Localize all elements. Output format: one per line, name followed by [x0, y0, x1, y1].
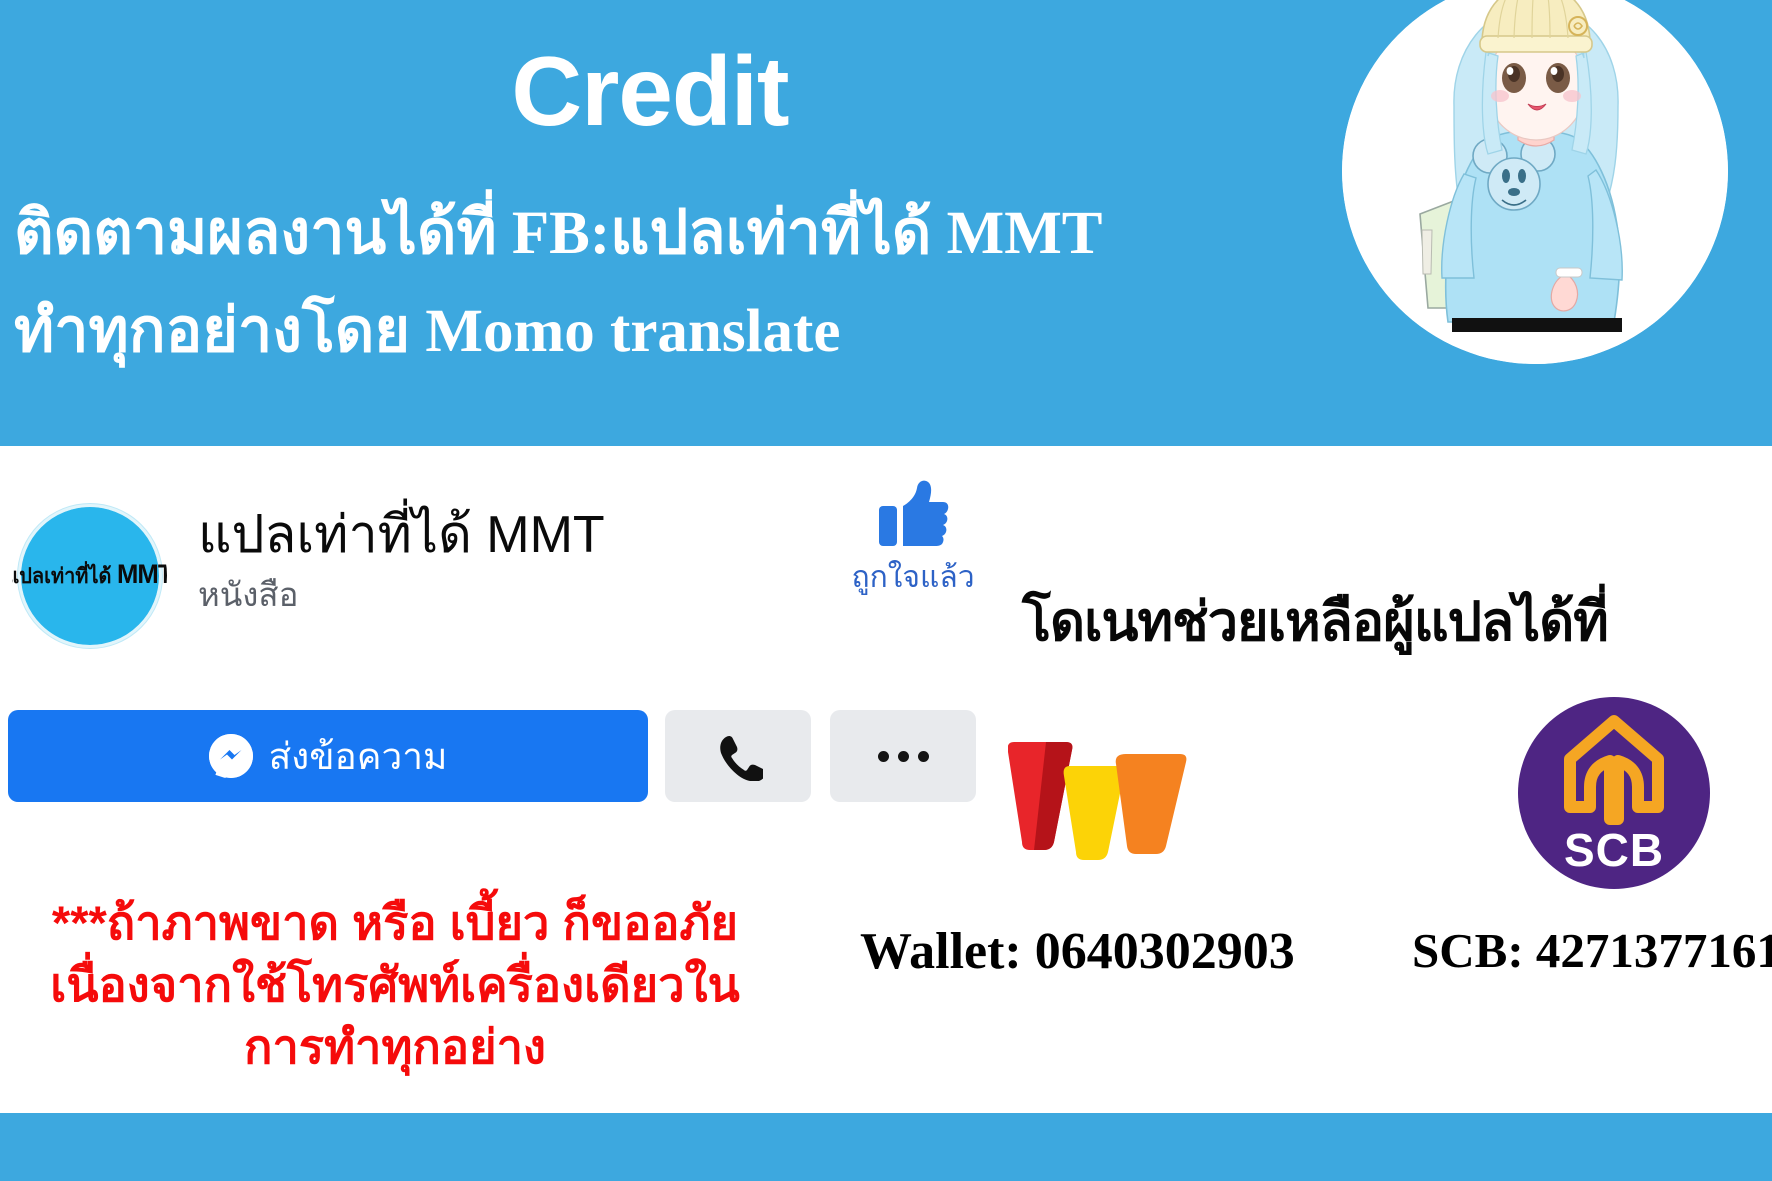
disclaimer-line-1: ***ถ้าภาพขาด หรือ เบี้ยว ก็ขออภัย: [0, 892, 790, 954]
ellipsis-dot: [878, 751, 889, 762]
banner-credit-line: ทำทุกอย่างโดย Momo translate: [14, 298, 840, 365]
truemoney-wallet-logo: [1008, 730, 1188, 860]
banner-follow-line: ติดตามผลงานได้ที่ FB:แปลเท่าที่ได้ MMT: [14, 200, 1103, 267]
ellipsis-dot: [918, 751, 929, 762]
page-logo-text: แปลเท่าที่ได้ MMT: [12, 559, 167, 593]
page-category: หนังสือ: [198, 568, 298, 621]
page-logo-disc: แปลเท่าที่ได้ MMT: [17, 503, 163, 649]
phone-icon: [713, 731, 763, 781]
disclaimer-text: ***ถ้าภาพขาด หรือ เบี้ยว ก็ขออภัย เนื่อง…: [0, 892, 790, 1078]
page-title: แปลเท่าที่ได้ MMT: [198, 492, 605, 575]
disclaimer-line-3: การทำทุกอย่าง: [0, 1016, 790, 1078]
ellipsis-icon: [878, 751, 929, 762]
call-button[interactable]: [665, 710, 811, 802]
bottom-blue-bar: [0, 1113, 1772, 1181]
more-options-button[interactable]: [830, 710, 976, 802]
messenger-icon: [209, 734, 253, 778]
disclaimer-line-2: เนื่องจากใช้โทรศัพท์เครื่องเดียวใน: [0, 954, 790, 1016]
thumbs-up-icon[interactable]: [877, 480, 949, 548]
scb-logo-label: SCB: [1564, 823, 1664, 877]
ellipsis-dot: [898, 751, 909, 762]
anime-girl-avatar-icon: [1342, 0, 1728, 364]
donate-heading: โดเนทช่วยเหลือผู้แปลได้ที่: [1022, 578, 1608, 664]
scb-bank-logo: SCB: [1518, 697, 1710, 889]
messenger-bolt-icon: [209, 734, 253, 778]
like-status-block[interactable]: ถูกใจแล้ว: [838, 480, 988, 601]
credit-page-root: Credit ติดตามผลงานได้ที่ FB:แปลเท่าที่ได…: [0, 0, 1772, 1181]
like-label: ถูกใจแล้ว: [838, 554, 988, 601]
page-logo-mmt: MMT: [117, 559, 167, 589]
truemoney-wallet-logo-icon: [1008, 730, 1188, 860]
avatar: [1342, 0, 1728, 364]
send-message-label: ส่งข้อความ: [269, 727, 448, 786]
page-logo[interactable]: แปลเท่าที่ได้ MMT: [12, 498, 167, 653]
wallet-number: Wallet: 0640302903: [860, 922, 1295, 981]
banner-title: Credit: [0, 40, 1300, 143]
scb-account-number: SCB: 4271377161: [1412, 922, 1772, 979]
send-message-button[interactable]: ส่งข้อความ: [8, 710, 648, 802]
scb-bodhi-leaf-icon: [1552, 715, 1676, 827]
credit-banner: Credit ติดตามผลงานได้ที่ FB:แปลเท่าที่ได…: [0, 0, 1772, 446]
